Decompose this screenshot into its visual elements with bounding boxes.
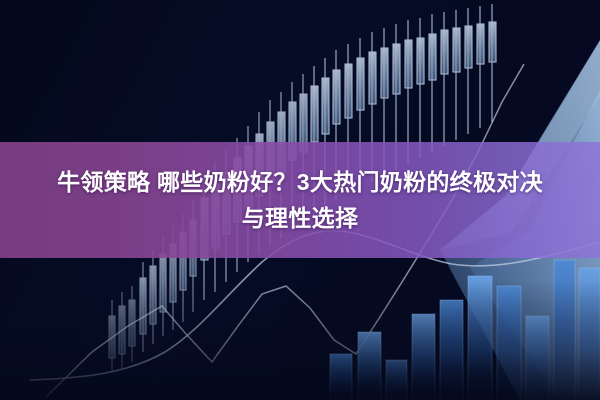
page-title: 牛领策略 哪些奶粉好？3大热门奶粉的终极对决 与理性选择 [0,142,600,258]
headline-line-1: 牛领策略 哪些奶粉好？3大热门奶粉的终极对决 [57,165,543,199]
banner-image: 牛领策略 哪些奶粉好？3大热门奶粉的终极对决 与理性选择 [0,0,600,400]
headline-line-2: 与理性选择 [242,201,359,235]
